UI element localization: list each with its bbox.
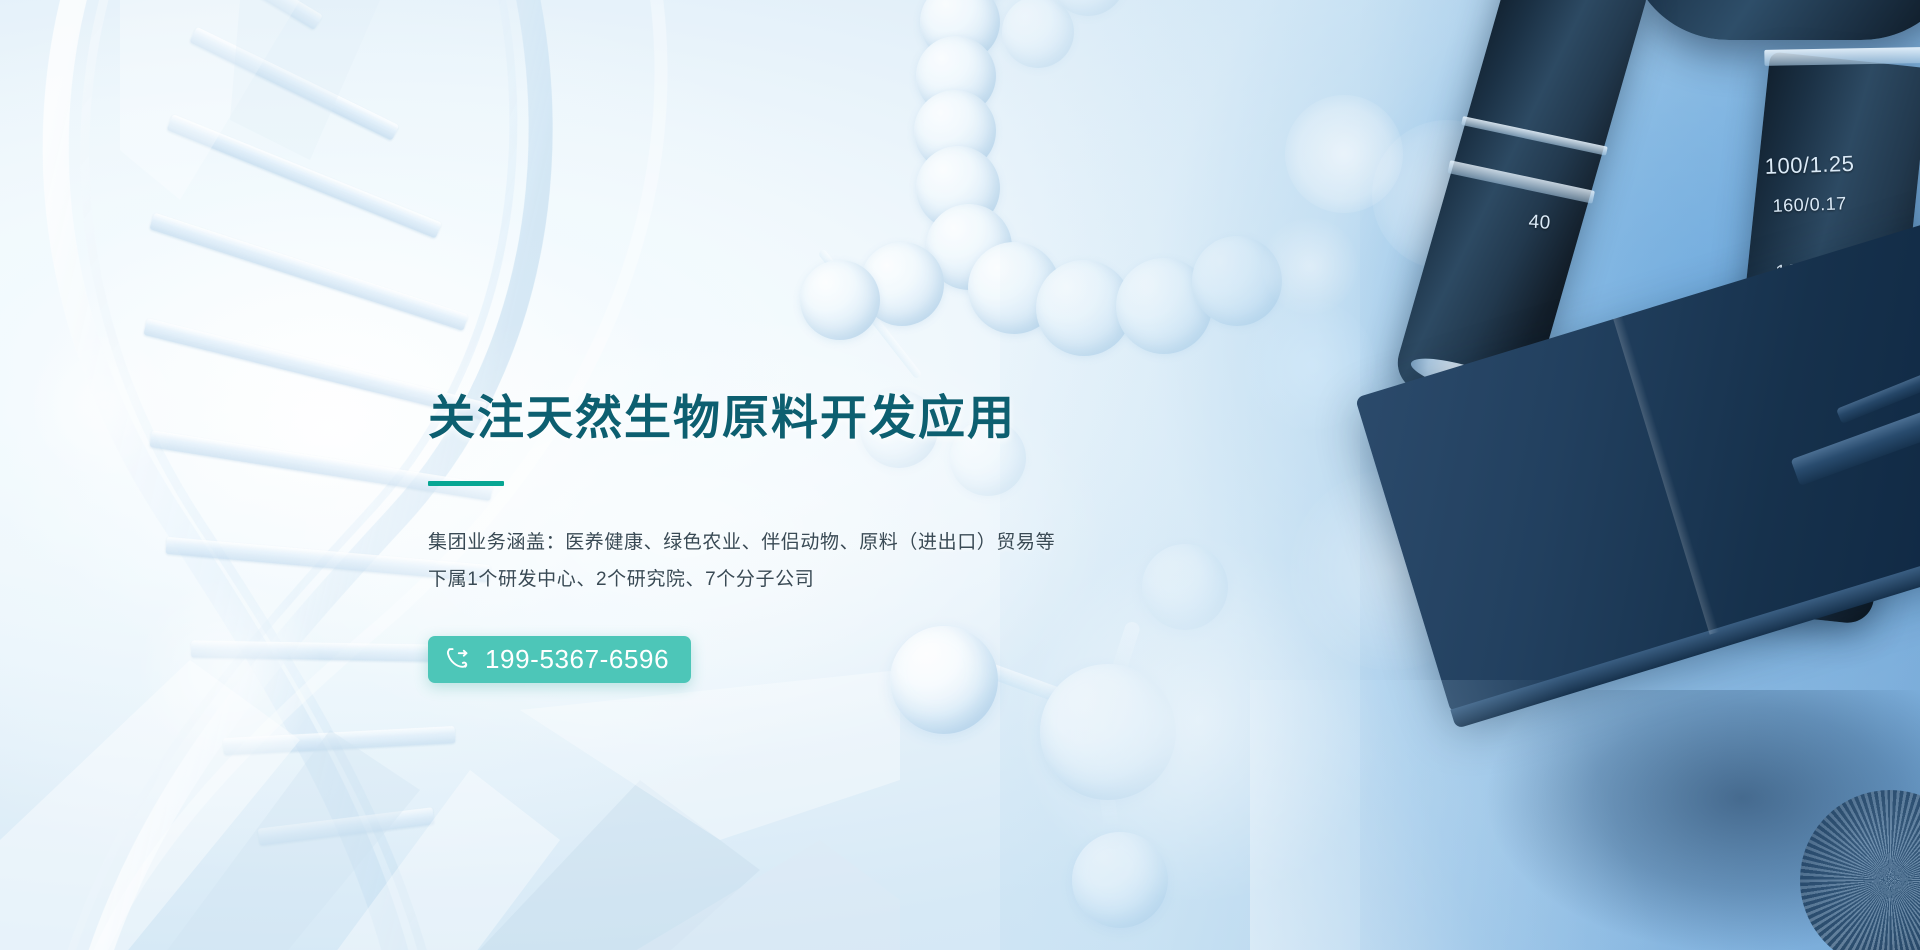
glass-flare — [1250, 680, 1670, 950]
barrel-ring — [1764, 47, 1920, 66]
phone-forward-icon — [445, 646, 471, 672]
barrel-ring — [1447, 160, 1594, 203]
phone-number-label: 199-5367-6596 — [485, 646, 669, 672]
objective-magnification-label-40: 40 — [1528, 211, 1552, 234]
hero-content: 关注天然生物原料开发应用 集团业务涵盖：医养健康、绿色农业、伴侣动物、原料（进出… — [428, 392, 1188, 683]
hero-banner: 40 100/1.25 160/0.17 100 关注天 — [0, 0, 1920, 950]
hero-description-line-2: 下属1个研发中心、2个研究院、7个分子公司 — [428, 561, 1188, 598]
stage-plate-groove — [1613, 316, 1719, 635]
barrel-ring — [1461, 116, 1608, 156]
objective-aperture-label-100-125: 100/1.25 — [1764, 151, 1854, 180]
hero-description: 集团业务涵盖：医养健康、绿色农业、伴侣动物、原料（进出口）贸易等 下属1个研发中… — [428, 524, 1188, 598]
objective-tube-label-160-017: 160/0.17 — [1772, 193, 1847, 217]
accent-divider — [428, 481, 504, 486]
call-phone-button[interactable]: 199-5367-6596 — [428, 636, 691, 683]
hero-description-line-1: 集团业务涵盖：医养健康、绿色农业、伴侣动物、原料（进出口）贸易等 — [428, 524, 1188, 561]
page-title: 关注天然生物原料开发应用 — [428, 392, 1188, 445]
turret-dome — [1630, 0, 1920, 40]
